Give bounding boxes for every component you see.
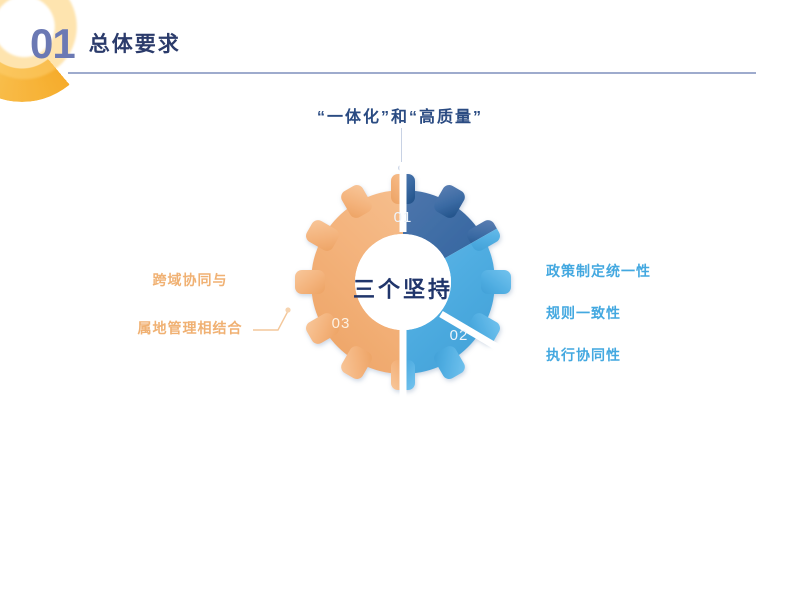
page-title: 总体要求	[89, 30, 181, 62]
left-label-line-2: 属地管理相结合	[110, 304, 270, 352]
gear-segment-03-number: 03	[332, 315, 351, 332]
right-label-group: 政策制定统一性 规则一致性 执行协同性 率先建成资源共享、信息互通、高效规范、市…	[546, 250, 716, 376]
left-label-line-1: 跨域协同与	[110, 256, 270, 304]
left-label-group: 跨域协同与 属地管理相结合	[110, 256, 270, 352]
right-label-line-2: 规则一致性	[546, 292, 716, 334]
slide-canvas: 01 总体要求 “一体化”和“高质量”	[0, 0, 800, 600]
page-header: 01 总体要求	[30, 26, 181, 62]
gear-segment-01-number: 01	[394, 209, 413, 226]
left-connector-line	[252, 305, 292, 333]
header-divider	[68, 72, 756, 74]
gear-center-label: 三个坚持	[283, 272, 523, 304]
header-section-number: 01	[30, 26, 75, 62]
gear-segment-02-number: 02	[450, 327, 469, 344]
right-label-line-1: 政策制定统一性	[546, 250, 716, 292]
top-caption: “一体化”和“高质量”	[0, 103, 800, 127]
right-label-line-3: 执行协同性	[546, 334, 716, 376]
